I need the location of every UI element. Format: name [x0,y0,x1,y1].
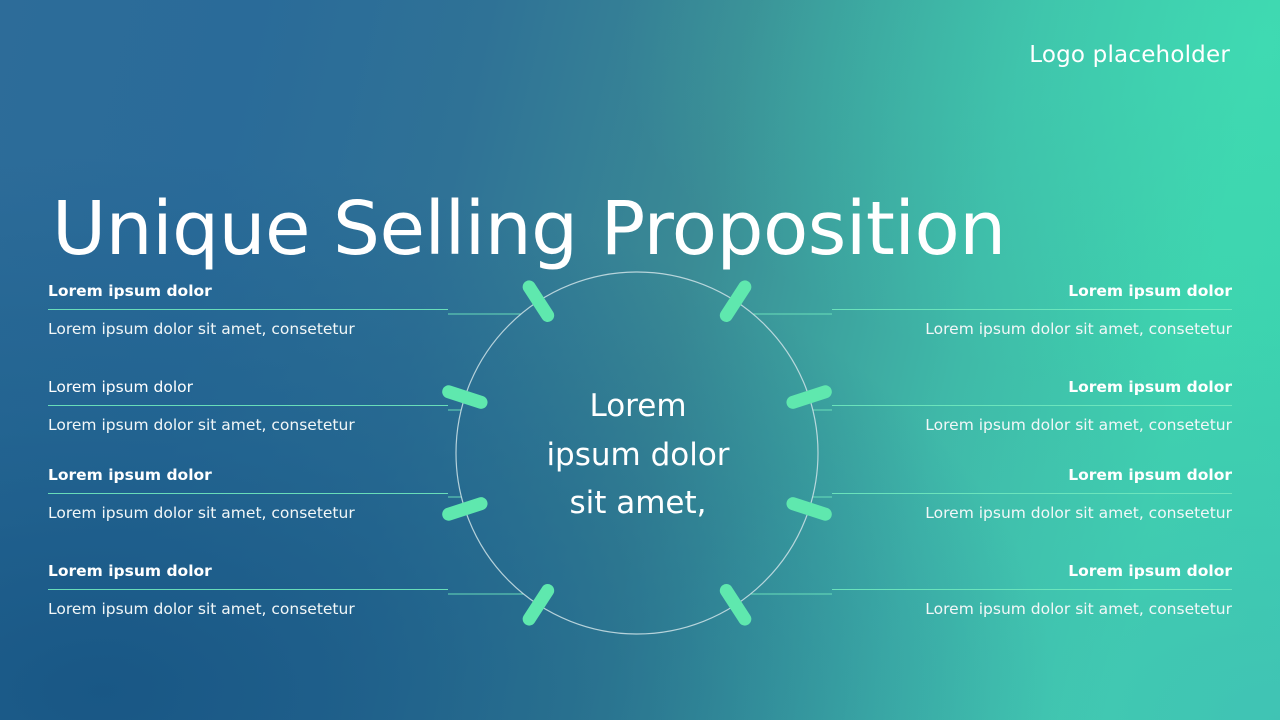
feature-item-description: Lorem ipsum dolor sit amet, consetetur [48,417,448,435]
feature-item-divider [832,309,1232,310]
feature-item-divider [832,405,1232,406]
logo-placeholder[interactable]: Logo placeholder [1029,42,1230,68]
feature-item[interactable]: Lorem ipsum dolorLorem ipsum dolor sit a… [832,283,1232,339]
feature-item-divider [48,309,448,310]
feature-item[interactable]: Lorem ipsum dolorLorem ipsum dolor sit a… [48,563,448,619]
feature-item-title: Lorem ipsum dolor [832,563,1232,580]
feature-item-title: Lorem ipsum dolor [832,379,1232,396]
feature-item-title: Lorem ipsum dolor [832,467,1232,484]
feature-item-divider [832,493,1232,494]
circle-segment-marker [717,582,754,628]
circle-segment-marker [520,278,557,324]
feature-item[interactable]: Lorem ipsum dolorLorem ipsum dolor sit a… [48,379,448,435]
feature-item-title: Lorem ipsum dolor [48,283,448,300]
feature-item-title: Lorem ipsum dolor [48,379,448,396]
feature-item-divider [48,589,448,590]
feature-item-divider [48,493,448,494]
feature-item[interactable]: Lorem ipsum dolorLorem ipsum dolor sit a… [832,467,1232,523]
feature-item[interactable]: Lorem ipsum dolorLorem ipsum dolor sit a… [832,563,1232,619]
feature-item-title: Lorem ipsum dolor [48,467,448,484]
feature-item[interactable]: Lorem ipsum dolorLorem ipsum dolor sit a… [832,379,1232,435]
feature-item-divider [48,405,448,406]
circle-segment-marker [717,278,754,324]
feature-item-description: Lorem ipsum dolor sit amet, consetetur [832,321,1232,339]
feature-item[interactable]: Lorem ipsum dolorLorem ipsum dolor sit a… [48,467,448,523]
feature-item-title: Lorem ipsum dolor [48,563,448,580]
feature-item-description: Lorem ipsum dolor sit amet, consetetur [832,505,1232,523]
feature-item[interactable]: Lorem ipsum dolorLorem ipsum dolor sit a… [48,283,448,339]
feature-item-description: Lorem ipsum dolor sit amet, consetetur [48,321,448,339]
feature-item-divider [832,589,1232,590]
feature-item-description: Lorem ipsum dolor sit amet, consetetur [832,601,1232,619]
circle-segment-marker [520,582,557,628]
feature-item-description: Lorem ipsum dolor sit amet, consetetur [48,601,448,619]
slide-canvas: Lorem ipsum dolor sit amet, Logo placeho… [0,0,1280,720]
feature-item-title: Lorem ipsum dolor [832,283,1232,300]
feature-item-description: Lorem ipsum dolor sit amet, consetetur [832,417,1232,435]
feature-item-description: Lorem ipsum dolor sit amet, consetetur [48,505,448,523]
hub-center-text: Lorem ipsum dolor sit amet, [457,382,819,528]
page-title: Unique Selling Proposition [52,192,1006,266]
